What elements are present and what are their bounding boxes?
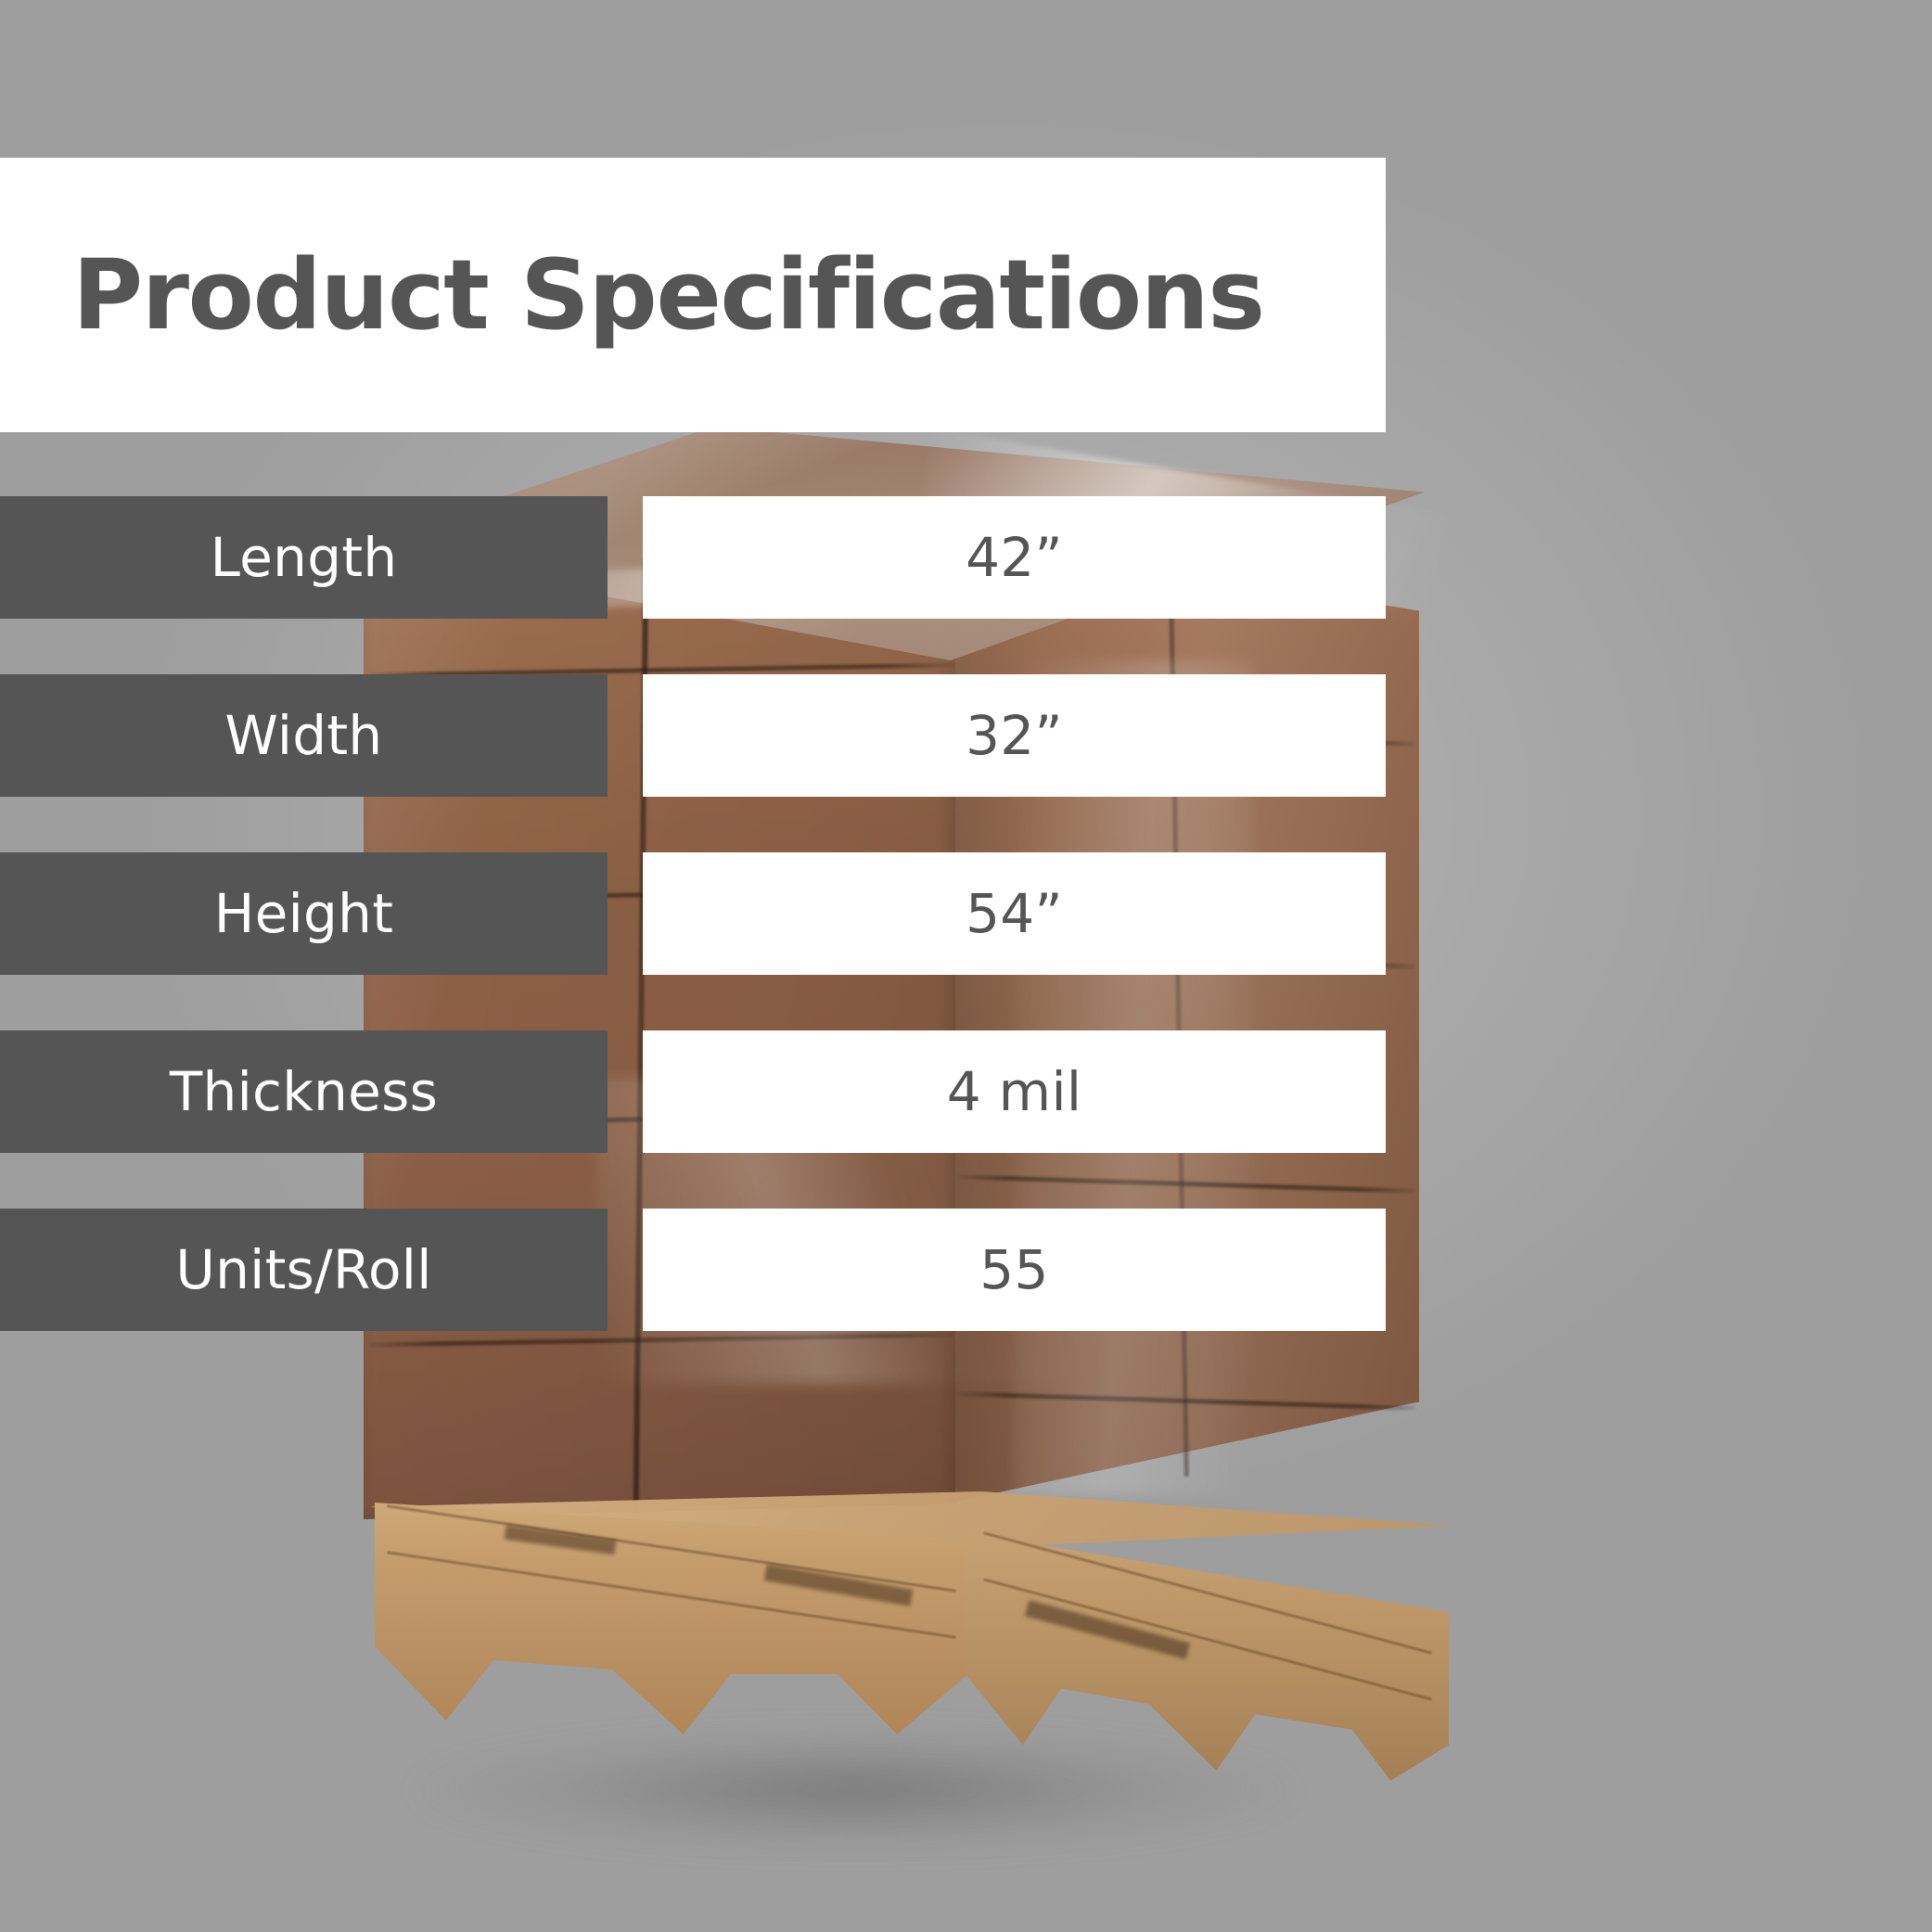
table-row: Length 42” [0,496,1386,619]
spec-value-length: 42” [643,496,1386,619]
table-row: Thickness 4 mil [0,1030,1386,1153]
spec-value-text: 55 [979,1238,1048,1301]
table-row: Height 54” [0,852,1386,975]
spec-label-text: Thickness [170,1060,438,1123]
spec-label-text: Units/Roll [175,1238,431,1301]
spec-label-thickness: Thickness [0,1030,608,1153]
spec-value-height: 54” [643,852,1386,975]
wooden-pallet [375,1491,1451,1798]
spec-label-text: Length [211,526,398,589]
title-bar: Product Specifications [0,158,1386,432]
spec-value-width: 32” [643,674,1386,797]
table-row: Units/Roll 55 [0,1209,1386,1331]
spec-label-units-per-roll: Units/Roll [0,1209,608,1331]
spec-value-thickness: 4 mil [643,1030,1386,1153]
page-title: Product Specifications [72,238,1264,352]
spec-label-text: Width [224,704,382,767]
product-spec-graphic: Product Specifications Length 42” Width … [0,0,1932,1932]
spec-value-text: 4 mil [947,1060,1082,1123]
spec-label-length: Length [0,496,608,619]
pallet-front-stringer [375,1503,968,1734]
spec-label-width: Width [0,674,608,797]
spec-value-units-per-roll: 55 [643,1209,1386,1331]
spec-label-text: Height [214,882,394,945]
pallet-side-stringer [965,1525,1449,1781]
spec-value-text: 54” [966,882,1063,945]
spec-value-text: 32” [966,704,1063,767]
table-row: Width 32” [0,674,1386,797]
spec-label-height: Height [0,852,608,975]
spec-table: Length 42” Width 32” Height 54” Thi [0,496,1386,1331]
spec-value-text: 42” [966,526,1063,589]
